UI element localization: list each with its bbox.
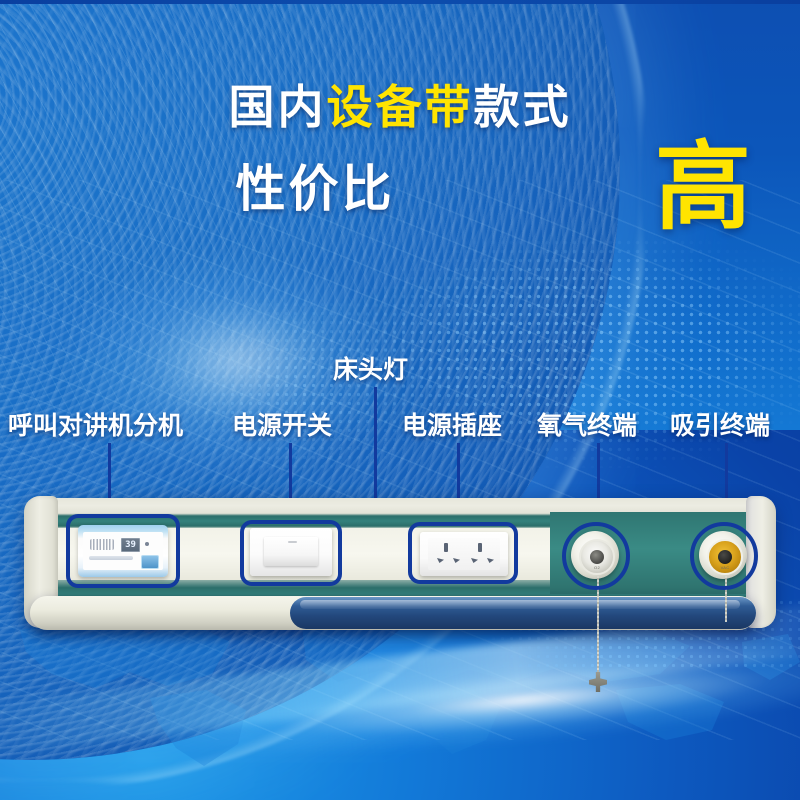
status-led-icon (145, 542, 149, 546)
speaker-grille-icon (90, 539, 114, 550)
panel-rail-highlight (300, 600, 740, 609)
headline-line-1: 国内设备带款式 (0, 84, 800, 130)
bed-lamp-power-switch[interactable] (250, 528, 332, 576)
top-edge-band (0, 0, 800, 4)
nurse-call-display: 39 (121, 538, 140, 552)
socket-blade-slot-2 (453, 558, 460, 563)
poster-canvas: 国内设备带款式 性价比 高 呼叫对讲机分机 电源开关 床头灯 电源插座 氧气终端… (0, 0, 800, 800)
nurse-call-button[interactable] (141, 555, 159, 569)
headline-part-plain-2: 款式 (474, 81, 572, 133)
headline-accent-word: 高 (655, 140, 751, 236)
suction-outlet-terminal[interactable]: VAC (699, 531, 747, 579)
socket-blade-slot-4 (487, 558, 494, 563)
switch-rocker[interactable] (264, 537, 318, 566)
headline-part-plain-1: 国内 (229, 81, 327, 133)
oxygen-outlet-ring: O2 (579, 539, 615, 575)
socket-pin-hole-b (478, 543, 482, 552)
socket-blade-slot-3 (471, 558, 478, 563)
callout-label-nurse-call: 呼叫对讲机分机 (8, 414, 183, 439)
callout-label-power-switch: 电源开关 (232, 414, 332, 439)
callout-label-suction-outlet: 吸引终端 (670, 414, 770, 439)
callout-label-power-socket: 电源插座 (402, 414, 502, 439)
nurse-call-label-slot (89, 556, 133, 560)
socket-blade-slot-1 (437, 558, 444, 563)
oxygen-pull-cord (597, 576, 599, 678)
suction-outlet-marking: VAC (709, 565, 741, 570)
suction-pull-cord (725, 576, 727, 622)
socket-pin-hole-a (444, 543, 448, 552)
suction-outlet-ring: VAC (707, 539, 743, 575)
switch-indicator-mark (288, 541, 297, 543)
nurse-call-faceplate: 39 (83, 532, 163, 570)
callout-label-bed-lamp: 床头灯 (333, 358, 408, 383)
power-socket-universal[interactable] (420, 532, 508, 576)
headline-part-highlight: 设备带 (327, 81, 474, 133)
callout-label-oxygen-outlet: 氧气终端 (537, 414, 637, 439)
nurse-call-intercom-unit[interactable]: 39 (78, 525, 168, 577)
oxygen-outlet-marking: O2 (581, 565, 613, 570)
oxygen-outlet-terminal[interactable]: O2 (571, 531, 619, 579)
oxygen-outlet-port (590, 550, 604, 564)
socket-faceplate (428, 538, 500, 570)
suction-outlet-port (718, 550, 732, 564)
